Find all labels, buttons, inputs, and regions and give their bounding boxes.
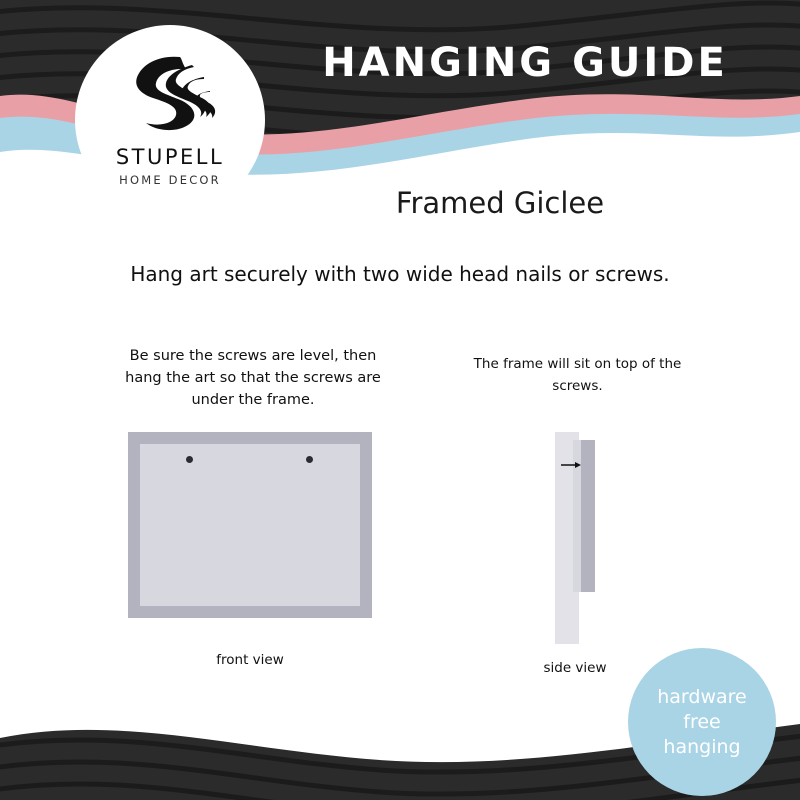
logo-subtitle: HOME DECOR <box>75 173 265 187</box>
badge-line-3: hanging <box>663 735 740 760</box>
stupell-swirl-logo-icon <box>122 53 218 143</box>
badge-line-1: hardware <box>657 685 747 710</box>
logo-name: STUPELL <box>75 145 265 169</box>
front-view-caption: Be sure the screws are level, then hang … <box>118 345 388 411</box>
product-type-heading: Framed Giclee <box>290 186 710 220</box>
hardware-free-hanging-badge: hardware free hanging <box>628 648 776 796</box>
front-view-frame-diagram <box>128 432 372 618</box>
screw-arrow-icon <box>561 455 581 465</box>
hanging-guide-page: HANGING GUIDE STUPELL HOME DECOR Framed … <box>0 0 800 800</box>
side-view-caption: The frame will sit on top of the screws. <box>455 353 700 397</box>
screw-dot-right-icon <box>306 456 313 463</box>
screw-dot-left-icon <box>186 456 193 463</box>
badge-line-2: free <box>683 710 720 735</box>
front-view-frame-inner <box>140 444 360 606</box>
instruction-text: Hang art securely with two wide head nai… <box>0 262 800 286</box>
logo: STUPELL HOME DECOR <box>75 25 265 215</box>
page-title: HANGING GUIDE <box>290 40 760 86</box>
front-view-label: front view <box>128 652 372 668</box>
